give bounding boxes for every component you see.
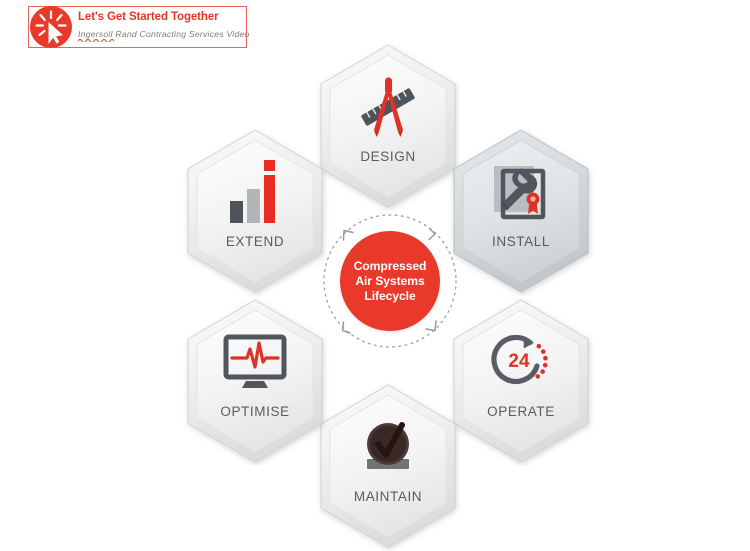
hexagon-node-extend[interactable]: EXTEND [180,126,330,296]
24-hour-circular-arrow-icon: 24 [446,326,596,398]
gauge-checkmark-icon [313,411,463,483]
compass-and-ruler-icon [313,71,463,143]
hexagon-node-optimise[interactable]: OPTIMISE [180,296,330,466]
red-click-cursor-burst-icon [28,4,74,50]
center-line-1: Compressed [354,259,427,274]
hexagon-node-design[interactable]: DESIGN [313,41,463,211]
center-line-2: Air Systems [355,274,424,289]
center-lifecycle-badge[interactable]: Compressed Air Systems Lifecycle [340,231,440,331]
bar-chart-info-icon [180,156,330,228]
lifecycle-diagram: DESIGN INSTAL [0,0,750,544]
hexagon-label-design: DESIGN [313,149,463,164]
hexagon-label-extend: EXTEND [180,234,330,249]
hexagon-label-install: INSTALL [446,234,596,249]
hexagon-label-operate: OPERATE [446,404,596,419]
hexagon-node-maintain[interactable]: MAINTAIN [313,381,463,551]
operate-badge-24: 24 [508,351,530,372]
hexagon-node-install[interactable]: INSTALL [446,126,596,296]
hexagon-label-optimise: OPTIMISE [180,404,330,419]
monitor-pulse-icon [180,326,330,398]
hexagon-label-maintain: MAINTAIN [313,489,463,504]
document-wrench-certificate-icon [446,156,596,228]
hexagon-node-operate[interactable]: 24 OPERATE [446,296,596,466]
center-line-3: Lifecycle [364,289,415,304]
